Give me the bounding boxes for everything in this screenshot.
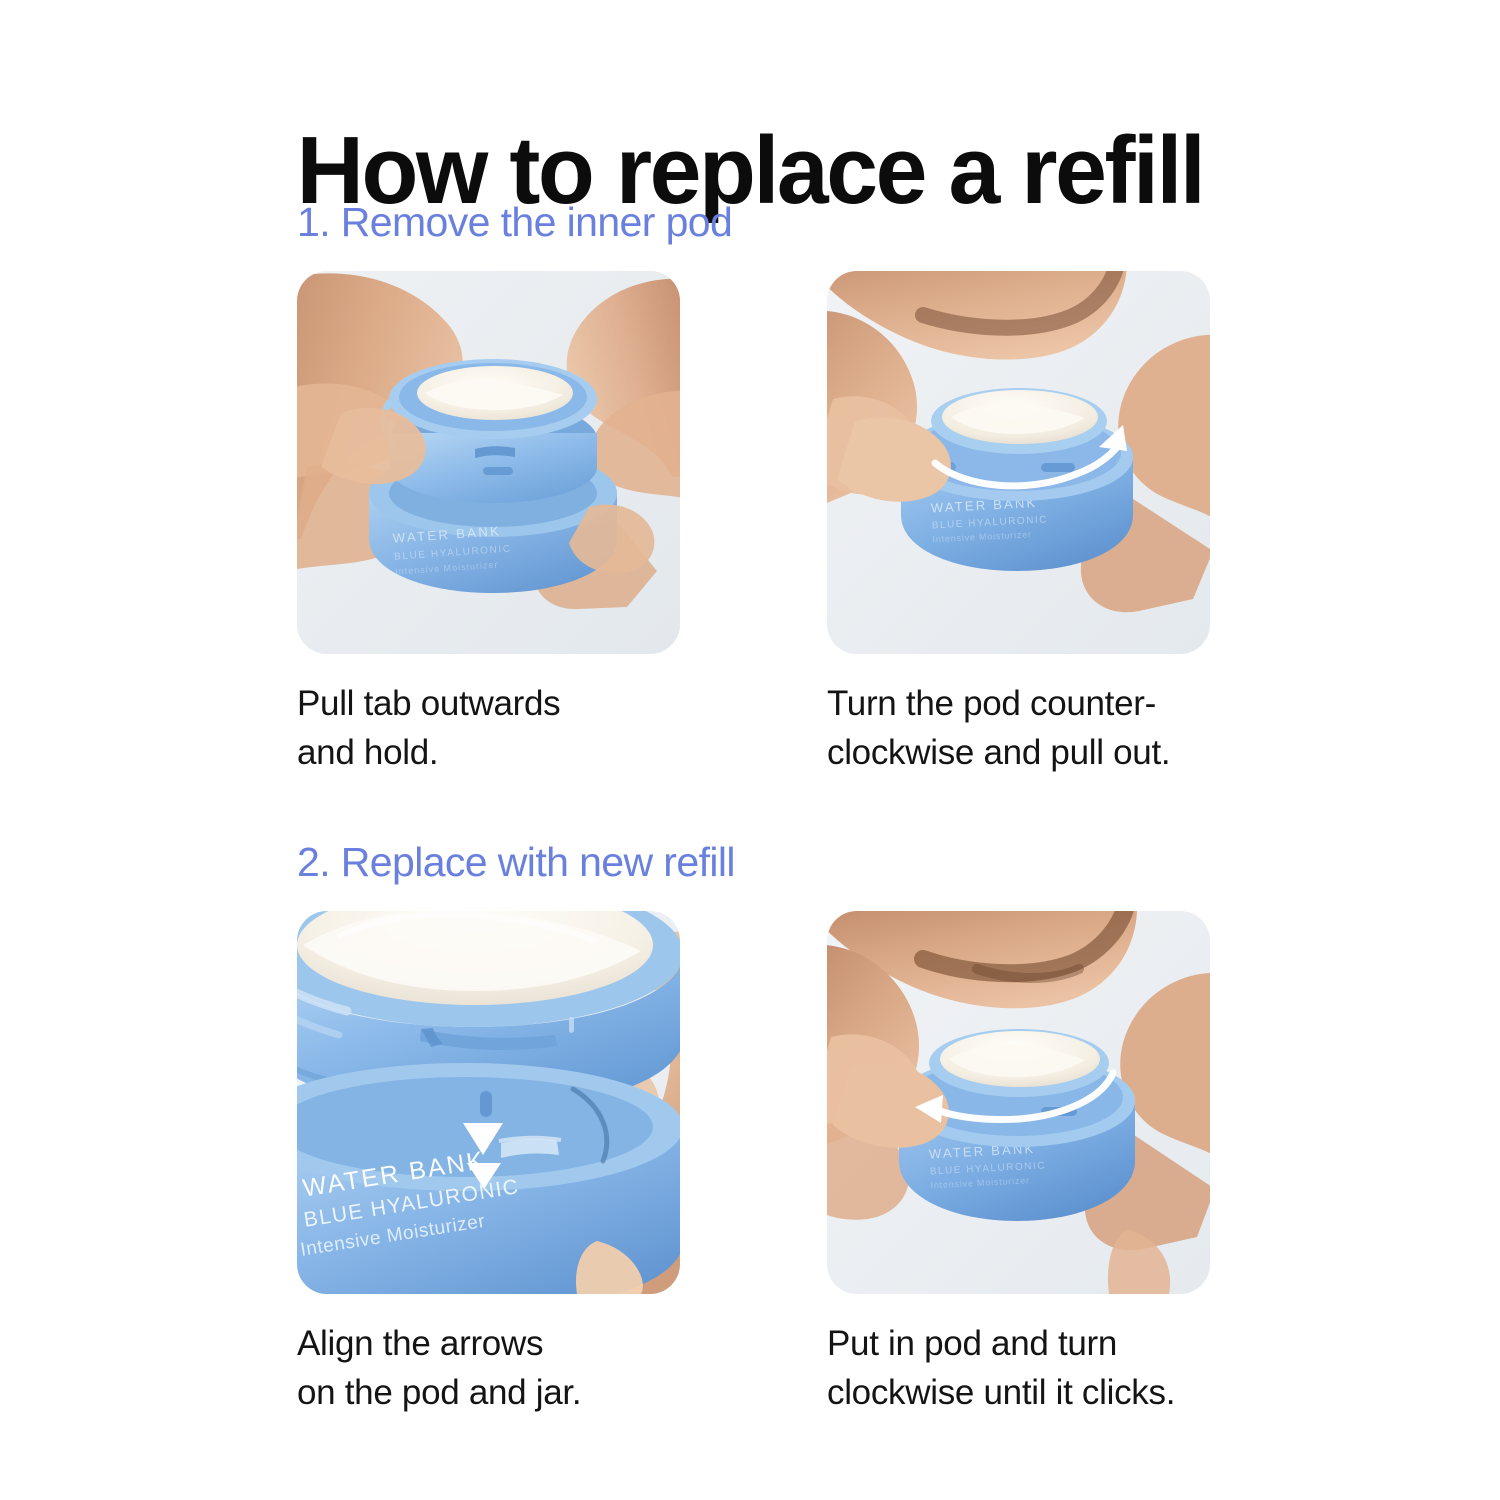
panel-turn-clockwise: WATER BANK BLUE HYALURONIC Intensive Moi… [827,911,1210,1417]
infographic-page: How to replace a refill 1. Remove the in… [0,0,1500,1500]
caption-line: Put in pod and turn [827,1320,1210,1368]
caption-line: clockwise until it clicks. [827,1369,1210,1417]
panel-turn-counterclockwise: WATER BANK BLUE HYALURONIC Intensive Moi… [827,271,1210,777]
caption-line: Align the arrows [297,1320,680,1368]
step-1-heading: 1. Remove the inner pod [297,196,1407,249]
panel-pull-tab: WATER BANK BLUE HYALURONIC Intensive Moi… [297,271,680,777]
caption-line: Turn the pod counter- [827,680,1210,728]
photo-turn-clockwise: WATER BANK BLUE HYALURONIC Intensive Moi… [827,911,1210,1294]
step-2-heading: 2. Replace with new refill [297,836,1407,889]
photo-turn-counterclockwise: WATER BANK BLUE HYALURONIC Intensive Moi… [827,271,1210,654]
step-2-section: 2. Replace with new refill [297,836,1407,1417]
caption-turn-clockwise: Put in pod and turn clockwise until it c… [827,1320,1210,1417]
caption-align-arrows: Align the arrows on the pod and jar. [297,1320,680,1417]
caption-line: Pull tab outwards [297,680,680,728]
photo-align-arrows: WATER BANK BLUE HYALURONIC Intensive Moi… [297,911,680,1294]
caption-turn-counterclockwise: Turn the pod counter- clockwise and pull… [827,680,1210,777]
panel-align-arrows: WATER BANK BLUE HYALURONIC Intensive Moi… [297,911,680,1417]
caption-pull-tab: Pull tab outwards and hold. [297,680,680,777]
caption-line: and hold. [297,729,680,777]
caption-line: on the pod and jar. [297,1369,680,1417]
photo-pull-tab: WATER BANK BLUE HYALURONIC Intensive Moi… [297,271,680,654]
caption-line: clockwise and pull out. [827,729,1210,777]
step-1-panel-row: WATER BANK BLUE HYALURONIC Intensive Moi… [297,271,1407,777]
step-1-section: 1. Remove the inner pod [297,196,1407,777]
step-2-panel-row: WATER BANK BLUE HYALURONIC Intensive Moi… [297,911,1407,1417]
